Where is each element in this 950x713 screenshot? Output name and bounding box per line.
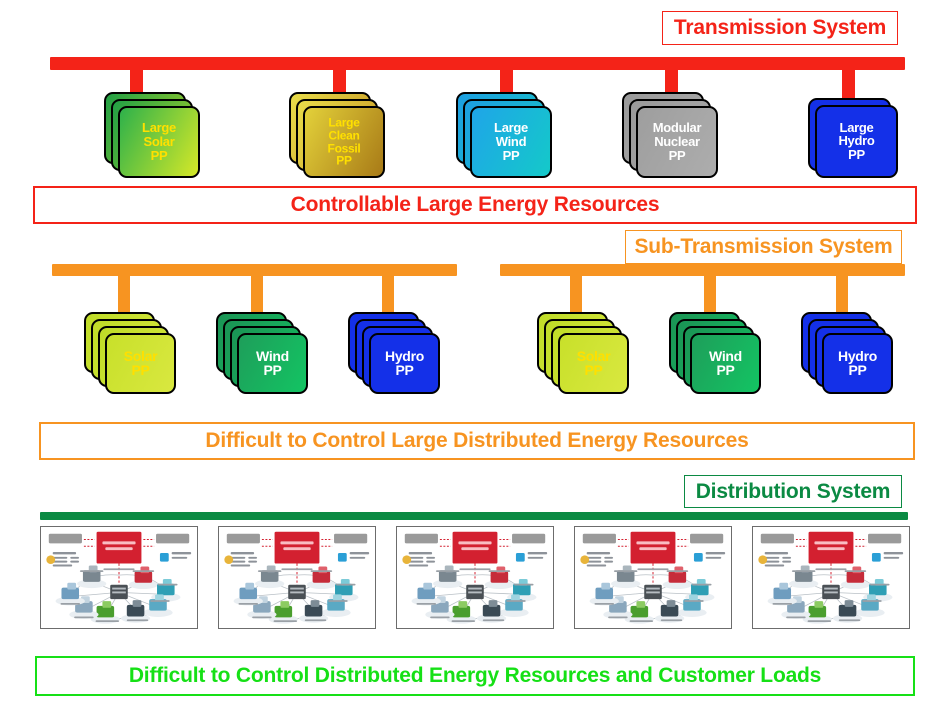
solar-pp-left-label-line: Solar <box>109 349 172 364</box>
solar-pp-left-label: SolarPP <box>107 349 174 379</box>
large-hydro-pp-label-line: PP <box>819 148 894 162</box>
large-solar-pp-label-line: Large <box>122 121 196 135</box>
wind-pp-left-card-front: WindPP <box>237 333 308 394</box>
large-wind-pp-label: LargeWindPP <box>472 121 550 163</box>
wind-pp-right-label-line: PP <box>694 364 757 379</box>
transmission-system-label-text: Transmission System <box>674 16 886 40</box>
hydro-pp-left-label: HydroPP <box>371 349 438 379</box>
large-hydro-pp-label-line: Large <box>819 121 894 135</box>
solar-pp-left-card-front: SolarPP <box>105 333 176 394</box>
distribution-thumbnail[interactable] <box>396 526 554 629</box>
subtransmission-banner-text: Difficult to Control Large Distributed E… <box>205 429 748 453</box>
large-wind-pp-label-line: Wind <box>474 135 548 149</box>
hydro-pp-left-card-front: HydroPP <box>369 333 440 394</box>
distribution-system-label-text: Distribution System <box>696 480 891 504</box>
transmission-banner-text: Controllable Large Energy Resources <box>291 193 660 217</box>
wind-pp-left-label-line: Wind <box>241 349 304 364</box>
hydro-pp-left-label-line: PP <box>373 364 436 379</box>
distribution-thumbnail[interactable] <box>752 526 910 629</box>
hydro-pp-right-label-line: PP <box>826 364 889 379</box>
large-clean-fossil-pp-label-line: Clean <box>307 129 381 142</box>
distribution-banner-text: Difficult to Control Distributed Energy … <box>129 664 821 688</box>
pp-stack-large-hydro[interactable]: LargeHydroPPLargeHydroPP <box>808 98 898 178</box>
distribution-system-label: Distribution System <box>684 475 902 508</box>
wind-pp-right-label: WindPP <box>692 349 759 379</box>
modular-nuclear-pp-card-front: ModularNuclearPP <box>636 106 718 178</box>
large-solar-pp-label-line: Solar <box>122 135 196 149</box>
pp-stack-wind-left[interactable]: WindPPWindPPWindPPWindPP <box>216 312 308 394</box>
solar-pp-right-label: SolarPP <box>560 349 627 379</box>
diagram-canvas: Transmission System LargeSolarPPLargeSol… <box>0 0 950 713</box>
distribution-banner: Difficult to Control Distributed Energy … <box>35 656 915 696</box>
wind-pp-left-label-line: PP <box>241 364 304 379</box>
subtransmission-banner: Difficult to Control Large Distributed E… <box>39 422 915 460</box>
pp-stack-solar-left[interactable]: SolarPPSolarPPSolarPPSolarPP <box>84 312 176 394</box>
solar-pp-left-label-line: PP <box>109 364 172 379</box>
pp-stack-large-solar[interactable]: LargeSolarPPLargeSolarPPLargeSolarPP <box>104 92 200 178</box>
large-hydro-pp-label: LargeHydroPP <box>817 121 896 163</box>
pp-stack-hydro-right[interactable]: HydroPPHydroPPHydroPPHydroPP <box>801 312 893 394</box>
modular-nuclear-pp-label: ModularNuclearPP <box>638 121 716 163</box>
solar-pp-right-card-front: SolarPP <box>558 333 629 394</box>
large-clean-fossil-pp-card-front: LargeCleanFossilPP <box>303 106 385 178</box>
wind-pp-left-label: WindPP <box>239 349 306 379</box>
subtransmission-system-label-text: Sub-Transmission System <box>635 235 893 259</box>
large-wind-pp-label-line: Large <box>474 121 548 135</box>
hydro-pp-left-label-line: Hydro <box>373 349 436 364</box>
pp-stack-wind-right[interactable]: WindPPWindPPWindPPWindPP <box>669 312 761 394</box>
subtransmission-system-label: Sub-Transmission System <box>625 230 902 264</box>
pp-stack-modular-nuclear[interactable]: ModularNuclearPPModularNuclearPPModularN… <box>622 92 718 178</box>
pp-stack-hydro-left[interactable]: HydroPPHydroPPHydroPPHydroPP <box>348 312 440 394</box>
modular-nuclear-pp-label-line: PP <box>640 149 714 163</box>
distribution-thumbnail[interactable] <box>40 526 198 629</box>
pp-stack-large-clean-fossil[interactable]: LargeCleanFossilPPLargeCleanFossilPPLarg… <box>289 92 385 178</box>
wind-pp-right-card-front: WindPP <box>690 333 761 394</box>
large-solar-pp-label-line: PP <box>122 149 196 163</box>
pp-stack-large-wind[interactable]: LargeWindPPLargeWindPPLargeWindPP <box>456 92 552 178</box>
transmission-banner: Controllable Large Energy Resources <box>33 186 917 224</box>
large-hydro-pp-label-line: Hydro <box>819 135 894 149</box>
transmission-system-label: Transmission System <box>662 11 898 45</box>
pp-stack-solar-right[interactable]: SolarPPSolarPPSolarPPSolarPP <box>537 312 629 394</box>
transmission-busbar <box>50 57 905 70</box>
large-solar-pp-card-front: LargeSolarPP <box>118 106 200 178</box>
wind-pp-right-label-line: Wind <box>694 349 757 364</box>
large-clean-fossil-pp-label-line: Large <box>307 116 381 129</box>
large-wind-pp-label-line: PP <box>474 149 548 163</box>
large-clean-fossil-pp-label: LargeCleanFossilPP <box>305 116 383 167</box>
modular-nuclear-pp-label-line: Modular <box>640 121 714 135</box>
distribution-thumbnail[interactable] <box>574 526 732 629</box>
solar-pp-right-label-line: Solar <box>562 349 625 364</box>
hydro-pp-right-label: HydroPP <box>824 349 891 379</box>
hydro-pp-right-card-front: HydroPP <box>822 333 893 394</box>
hydro-pp-right-label-line: Hydro <box>826 349 889 364</box>
distribution-busbar <box>40 512 908 520</box>
modular-nuclear-pp-label-line: Nuclear <box>640 135 714 149</box>
large-wind-pp-card-front: LargeWindPP <box>470 106 552 178</box>
large-hydro-pp-card-front: LargeHydroPP <box>815 105 898 178</box>
large-clean-fossil-pp-label-line: PP <box>307 155 381 168</box>
large-solar-pp-label: LargeSolarPP <box>120 121 198 163</box>
solar-pp-right-label-line: PP <box>562 364 625 379</box>
distribution-thumbnail[interactable] <box>218 526 376 629</box>
